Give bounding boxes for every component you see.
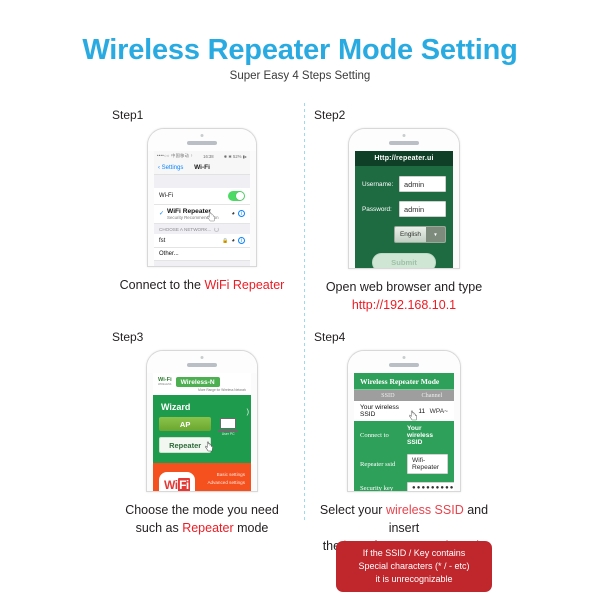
caption-line-1: Open web browser and type xyxy=(314,278,494,296)
security-key-label: Security key xyxy=(360,485,407,492)
network-row-0[interactable]: fst 🔒 ◕ i xyxy=(154,234,250,248)
wifi-signal-icon: ◕ xyxy=(231,211,235,217)
wifi-row-label: Wi-Fi xyxy=(159,193,173,199)
network-name-label: fst xyxy=(159,238,165,244)
router-logo-text: Wi-Fi xyxy=(158,377,172,383)
step-3-block: Step3 Wi-Fi WIRELESS Wireless-N More Ran… xyxy=(112,330,292,537)
warning-box: If the SSID / Key contains Special chara… xyxy=(336,541,492,592)
caption-highlight: http://192.168.10.1 xyxy=(314,296,494,314)
cell-security: WPA~ xyxy=(430,408,448,415)
signal-wave-icon: ) xyxy=(247,409,249,416)
phone-screen-step1: ••••○○ 中国移动 ↑ 16:38 ✱ ✱ 52% ▮▸ ‹ Setting… xyxy=(154,151,250,266)
step-2-caption: Open web browser and type http://192.168… xyxy=(314,278,494,314)
wifi-logo-badge: WiFi xyxy=(159,472,195,491)
connected-ssid-label: WiFi Repeater xyxy=(167,208,231,216)
info-icon[interactable]: i xyxy=(238,237,245,244)
vertical-divider xyxy=(304,103,305,521)
caption-text: mode xyxy=(234,521,269,535)
clock-label: 16:38 xyxy=(203,154,213,159)
phone-camera-icon xyxy=(403,134,406,137)
step-2-label: Step2 xyxy=(314,108,494,122)
phone-top-bezel xyxy=(348,351,460,373)
router-links: Basic settings Advanced settings xyxy=(207,471,245,487)
step-4-label: Step4 xyxy=(314,330,494,344)
phone-camera-icon xyxy=(201,356,204,359)
caption-line-1: Select your wireless SSID and insert xyxy=(314,501,494,537)
network-row-icons: 🔒 ◕ i xyxy=(222,237,245,244)
step-1-block: Step1 ••••○○ 中国移动 ↑ 16:38 ✱ ✱ 52% ▮▸ ‹ S… xyxy=(112,108,292,294)
security-key-input[interactable]: ●●●●●●●●● xyxy=(407,482,454,491)
ios-spacer xyxy=(154,175,250,188)
router-tagline: More Range for Wireless Network xyxy=(153,388,251,395)
phone-mock-step2: Http://repeater.ui Username: admin Passw… xyxy=(348,128,460,269)
warning-line-1: If the SSID / Key contains xyxy=(340,547,488,560)
phone-top-bezel xyxy=(147,351,257,373)
username-label: Username: xyxy=(362,181,399,188)
wifi-toggle-row[interactable]: Wi-Fi xyxy=(154,188,250,205)
computer-icon xyxy=(220,418,236,430)
ios-nav-bar: ‹ Settings Wi-Fi xyxy=(154,161,250,175)
carrier-signal-label: ••••○○ 中国移动 ↑ xyxy=(157,153,193,159)
wizard-device: User PC ) xyxy=(211,401,245,453)
username-input[interactable]: admin xyxy=(399,176,446,192)
wizard-modes: Wizard AP Repeater xyxy=(159,401,211,453)
poster-root: Wireless Repeater Mode Setting Super Eas… xyxy=(0,0,600,600)
mode-repeater-button[interactable]: Repeater xyxy=(159,437,211,453)
password-label: Password: xyxy=(362,206,399,213)
ios-status-bar: ••••○○ 中国移动 ↑ 16:38 ✱ ✱ 52% ▮▸ xyxy=(154,151,250,161)
phone-screen-step2: Http://repeater.ui Username: admin Passw… xyxy=(355,151,453,268)
phone-top-bezel xyxy=(349,129,459,151)
language-select[interactable]: English ▼ xyxy=(394,226,446,243)
phone-mock-step1: ••••○○ 中国移动 ↑ 16:38 ✱ ✱ 52% ▮▸ ‹ Setting… xyxy=(147,128,257,267)
wizard-panel: Wizard AP Repeater User PC ) xyxy=(153,395,251,463)
phone-top-bezel xyxy=(148,129,256,151)
lock-icon: 🔒 xyxy=(222,238,228,244)
connect-to-value: Your wireless SSID xyxy=(407,425,448,446)
chevron-down-icon[interactable]: ▼ xyxy=(426,227,445,242)
phone-camera-icon xyxy=(201,134,204,137)
connect-to-label: Connect to xyxy=(360,432,407,439)
connected-row-icons: ◕ i xyxy=(231,210,245,217)
phone-speaker-icon xyxy=(187,141,217,145)
link-basic-settings[interactable]: Basic settings xyxy=(207,471,245,479)
phone-speaker-icon xyxy=(389,363,419,367)
cell-ssid: Your wireless SSID xyxy=(360,404,414,418)
step-4-block: Step4 Wireless Repeater Mode SSID Channe… xyxy=(314,330,494,574)
phone-screen-step4: Wireless Repeater Mode SSID Channel Your… xyxy=(354,373,454,491)
step-2-block: Step2 Http://repeater.ui Username: admin… xyxy=(314,108,494,314)
connect-to-row: Connect to Your wireless SSID xyxy=(354,421,454,450)
cell-channel: 11 xyxy=(414,408,430,415)
ssid-table-header: SSID Channel xyxy=(354,390,454,401)
router-logo-sublabel: WIRELESS xyxy=(158,384,172,387)
connected-ssid-sublabel: Security Recommendation xyxy=(167,215,231,220)
ios-bottom-spacer xyxy=(154,261,250,266)
nav-title: Wi-Fi xyxy=(154,164,250,171)
router-logo: Wi-Fi WIRELESS xyxy=(158,378,172,386)
device-label: User PC xyxy=(222,432,235,436)
phone-speaker-icon xyxy=(187,363,217,367)
choose-network-header: CHOOSE A NETWORK... xyxy=(154,224,250,234)
language-select-row: English ▼ xyxy=(362,226,446,243)
wifi-banner-panel: WiFi Basic settings Advanced settings xyxy=(153,463,251,491)
caption-text: such as xyxy=(136,521,183,535)
phone-camera-icon xyxy=(403,356,406,359)
warning-line-2: Special characters (* / - etc) xyxy=(340,560,488,573)
router-header: Wi-Fi WIRELESS Wireless-N xyxy=(153,373,251,388)
network-row-1[interactable]: Other... xyxy=(154,248,250,261)
submit-button[interactable]: Submit xyxy=(372,253,436,268)
warning-line-3: it is unrecognizable xyxy=(340,573,488,586)
column-header-channel: Channel xyxy=(416,392,448,399)
security-key-row: Security key ●●●●●●●●● xyxy=(354,478,454,491)
caption-text: Connect to the xyxy=(120,278,205,292)
caption-text: Select your xyxy=(320,503,386,517)
network-name-label: Other... xyxy=(159,251,179,257)
wifi-banner-label: WiFi xyxy=(164,478,190,491)
caption-line-1: Choose the mode you need xyxy=(112,501,292,519)
repeater-ssid-label: Repeater ssid xyxy=(360,461,407,468)
step-3-label: Step3 xyxy=(112,330,292,344)
caption-line-2: such as Repeater mode xyxy=(112,519,292,537)
info-icon[interactable]: i xyxy=(238,210,245,217)
link-advanced-settings[interactable]: Advanced settings xyxy=(207,479,245,487)
caption-highlight: Repeater xyxy=(182,521,233,535)
choose-network-label: CHOOSE A NETWORK... xyxy=(159,227,211,232)
caption-highlight: wireless SSID xyxy=(386,503,464,517)
language-selected-value: English xyxy=(395,229,426,240)
step-1-caption: Connect to the WiFi Repeater xyxy=(112,276,292,294)
url-bar: Http://repeater.ui xyxy=(355,151,453,166)
repeater-ssid-input[interactable]: Wifi-Repeater xyxy=(407,454,448,474)
step-3-caption: Choose the mode you need such as Repeate… xyxy=(112,501,292,537)
username-field-row: Username: admin xyxy=(362,176,446,192)
page-title: Wireless Repeater Mode Setting xyxy=(0,34,600,67)
phone-mock-step3: Wi-Fi WIRELESS Wireless-N More Range for… xyxy=(146,350,258,492)
password-field-row: Password: admin xyxy=(362,201,446,217)
page-subtitle: Super Easy 4 Steps Setting xyxy=(0,70,600,82)
wifi-toggle-switch[interactable] xyxy=(228,191,245,201)
repeater-page-title: Wireless Repeater Mode xyxy=(354,373,454,390)
wifi-signal-icon: ◕ xyxy=(231,238,235,244)
phone-speaker-icon xyxy=(389,141,419,145)
battery-label: ✱ ✱ 52% ▮▸ xyxy=(224,154,247,159)
checkmark-icon: ✓ xyxy=(159,210,164,217)
connected-network-row[interactable]: ✓ WiFi Repeater Security Recommendation … xyxy=(154,205,250,225)
column-header-ssid: SSID xyxy=(360,392,416,399)
repeater-ssid-row: Repeater ssid Wifi-Repeater xyxy=(354,450,454,478)
password-input[interactable]: admin xyxy=(399,201,446,217)
login-form: Username: admin Password: admin English … xyxy=(355,166,453,268)
phone-screen-step3: Wi-Fi WIRELESS Wireless-N More Range for… xyxy=(153,373,251,491)
mode-ap-button[interactable]: AP xyxy=(159,417,211,431)
wizard-title: Wizard xyxy=(161,402,211,412)
ssid-table-row[interactable]: Your wireless SSID 11 WPA~ xyxy=(354,401,454,421)
loading-spinner-icon xyxy=(214,227,219,232)
wireless-n-badge: Wireless-N xyxy=(176,377,220,387)
caption-highlight: WiFi Repeater xyxy=(204,278,284,292)
phone-mock-step4: Wireless Repeater Mode SSID Channel Your… xyxy=(347,350,461,492)
step-1-label: Step1 xyxy=(112,108,292,122)
